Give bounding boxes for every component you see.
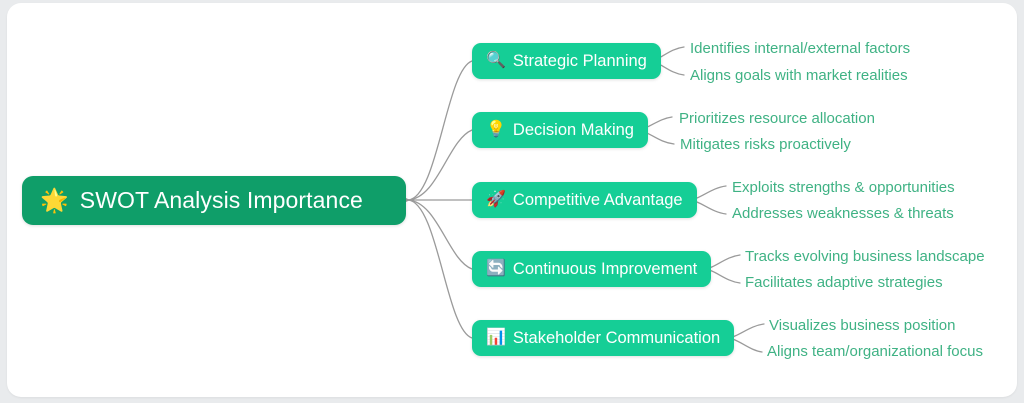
root-node[interactable]: 🌟 SWOT Analysis Importance	[22, 176, 406, 225]
branch-node-competitive-advantage[interactable]: 🚀 Competitive Advantage	[472, 182, 697, 218]
leaf-node[interactable]: Identifies internal/external factors	[690, 41, 910, 56]
branch-node-label: Competitive Advantage	[513, 191, 683, 210]
magnifying-glass-icon: 🔍	[486, 53, 506, 69]
mindmap-canvas: 🌟 SWOT Analysis Importance 🔍 Strategic P…	[0, 0, 1024, 403]
leaf-node[interactable]: Visualizes business position	[769, 318, 956, 333]
root-node-label: SWOT Analysis Importance	[80, 187, 363, 214]
branch-node-continuous-improvement[interactable]: 🔄 Continuous Improvement	[472, 251, 711, 287]
leaf-node[interactable]: Mitigates risks proactively	[680, 137, 851, 152]
branch-node-decision-making[interactable]: 💡 Decision Making	[472, 112, 648, 148]
branch-node-stakeholder-communication[interactable]: 📊 Stakeholder Communication	[472, 320, 734, 356]
leaf-node[interactable]: Aligns team/organizational focus	[767, 344, 983, 359]
branch-node-label: Strategic Planning	[513, 52, 647, 71]
leaf-node[interactable]: Facilitates adaptive strategies	[745, 275, 943, 290]
branch-node-label: Continuous Improvement	[513, 260, 697, 279]
glowing-star-icon: 🌟	[40, 189, 69, 212]
leaf-node[interactable]: Tracks evolving business landscape	[745, 249, 985, 264]
branch-node-label: Decision Making	[513, 121, 634, 140]
branch-node-label: Stakeholder Communication	[513, 329, 720, 348]
branch-node-strategic-planning[interactable]: 🔍 Strategic Planning	[472, 43, 661, 79]
leaf-node[interactable]: Prioritizes resource allocation	[679, 111, 875, 126]
leaf-node[interactable]: Addresses weaknesses & threats	[732, 206, 954, 221]
bar-chart-icon: 📊	[486, 330, 506, 346]
refresh-cycle-icon: 🔄	[486, 261, 506, 277]
leaf-node[interactable]: Aligns goals with market realities	[690, 68, 908, 83]
rocket-icon: 🚀	[486, 192, 506, 208]
light-bulb-icon: 💡	[486, 122, 506, 138]
leaf-node[interactable]: Exploits strengths & opportunities	[732, 180, 955, 195]
